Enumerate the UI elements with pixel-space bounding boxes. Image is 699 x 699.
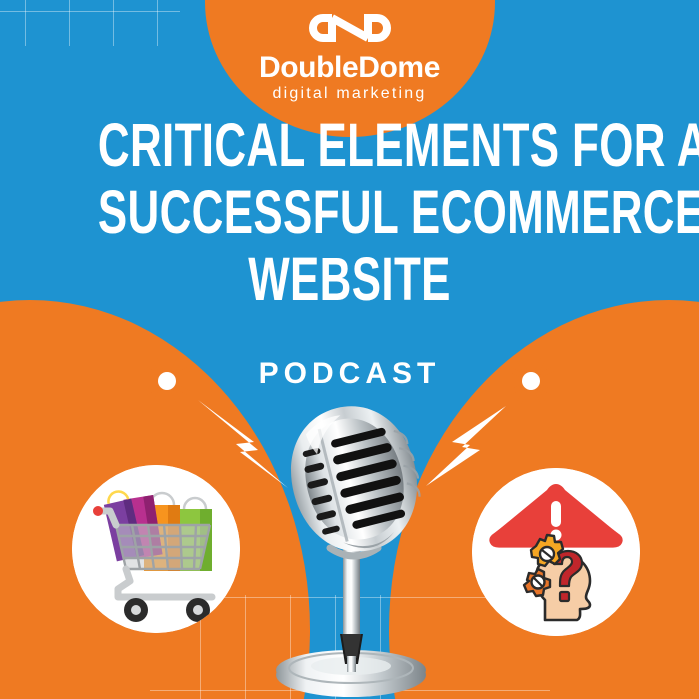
brand-name: DoubleDome bbox=[0, 52, 699, 84]
retro-microphone-illustration bbox=[258, 398, 444, 699]
shopping-cart-badge bbox=[72, 465, 240, 633]
podcast-label: PODCAST bbox=[0, 357, 699, 391]
sunburst-icon-right bbox=[505, 355, 557, 407]
title-line-2: SUCCESSFUL ECOMMERCE bbox=[98, 179, 601, 246]
warning-badge bbox=[472, 468, 640, 636]
shopping-cart-with-bags-illustration bbox=[72, 465, 240, 633]
warning-triangle-and-thinking-head-illustration bbox=[472, 468, 640, 636]
title-line-1: CRITICAL ELEMENTS FOR A bbox=[98, 112, 601, 179]
brand-tagline: digital marketing bbox=[0, 84, 699, 104]
page-title: CRITICAL ELEMENTS FOR A SUCCESSFUL ECOMM… bbox=[98, 112, 601, 313]
podcast-promo-poster: DoubleDome digital marketing CRITICAL EL… bbox=[0, 0, 699, 699]
doubledome-infinity-mark bbox=[302, 6, 398, 50]
brand-logo: DoubleDome digital marketing bbox=[0, 6, 699, 104]
sunburst-icon-left bbox=[141, 355, 193, 407]
title-line-3: WEBSITE bbox=[98, 246, 601, 313]
